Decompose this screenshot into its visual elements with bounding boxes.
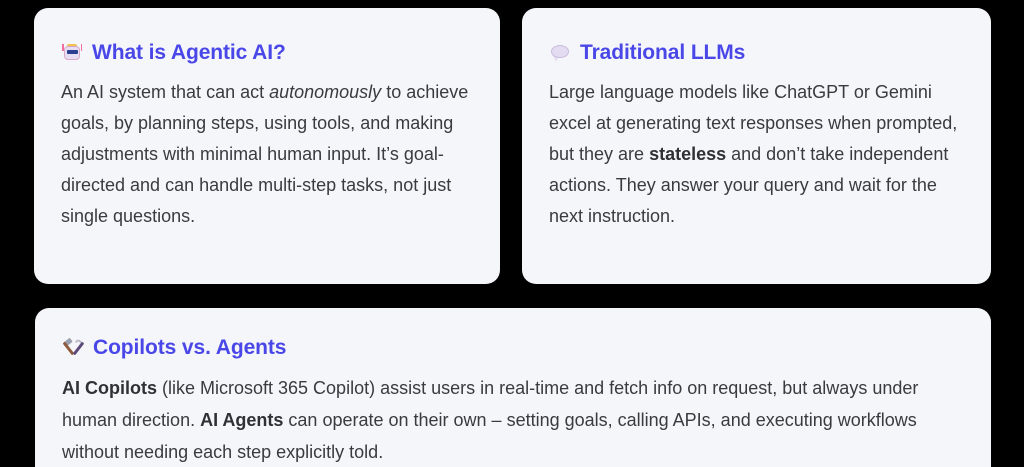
card-heading-what-is-agentic-ai: What is Agentic AI? bbox=[61, 41, 500, 65]
card-body-what-is-agentic-ai: An AI system that can act autonomously t… bbox=[61, 77, 474, 232]
page-root: What is Agentic AI? An AI system that ca… bbox=[0, 0, 1024, 467]
card-heading-label: What is Agentic AI? bbox=[92, 41, 286, 65]
card-body-copilots-vs-agents: AI Copilots (like Microsoft 365 Copilot)… bbox=[62, 372, 965, 467]
hammer-and-wrench-icon bbox=[62, 338, 84, 358]
speech-balloon-icon bbox=[549, 43, 571, 63]
body-segment-strong: AI Copilots bbox=[62, 378, 157, 398]
card-body-traditional-llms: Large language models like ChatGPT or Ge… bbox=[549, 77, 973, 232]
robot-icon bbox=[61, 43, 83, 63]
body-segment-emphasis: autonomously bbox=[269, 82, 381, 102]
card-heading-traditional-llms: Traditional LLMs bbox=[549, 41, 991, 65]
body-segment: An AI system that can act bbox=[61, 82, 269, 102]
card-traditional-llms: Traditional LLMs Large language models l… bbox=[522, 8, 991, 284]
card-copilots-vs-agents: Copilots vs. Agents AI Copilots (like Mi… bbox=[35, 308, 991, 467]
card-heading-label: Traditional LLMs bbox=[580, 41, 745, 65]
body-segment-strong: stateless bbox=[649, 144, 726, 164]
card-heading-label: Copilots vs. Agents bbox=[93, 336, 286, 360]
body-segment-strong: AI Agents bbox=[200, 410, 283, 430]
body-segment: to achieve goals, by planning steps, usi… bbox=[61, 82, 468, 226]
card-what-is-agentic-ai: What is Agentic AI? An AI system that ca… bbox=[34, 8, 500, 284]
card-heading-copilots-vs-agents: Copilots vs. Agents bbox=[62, 336, 991, 360]
